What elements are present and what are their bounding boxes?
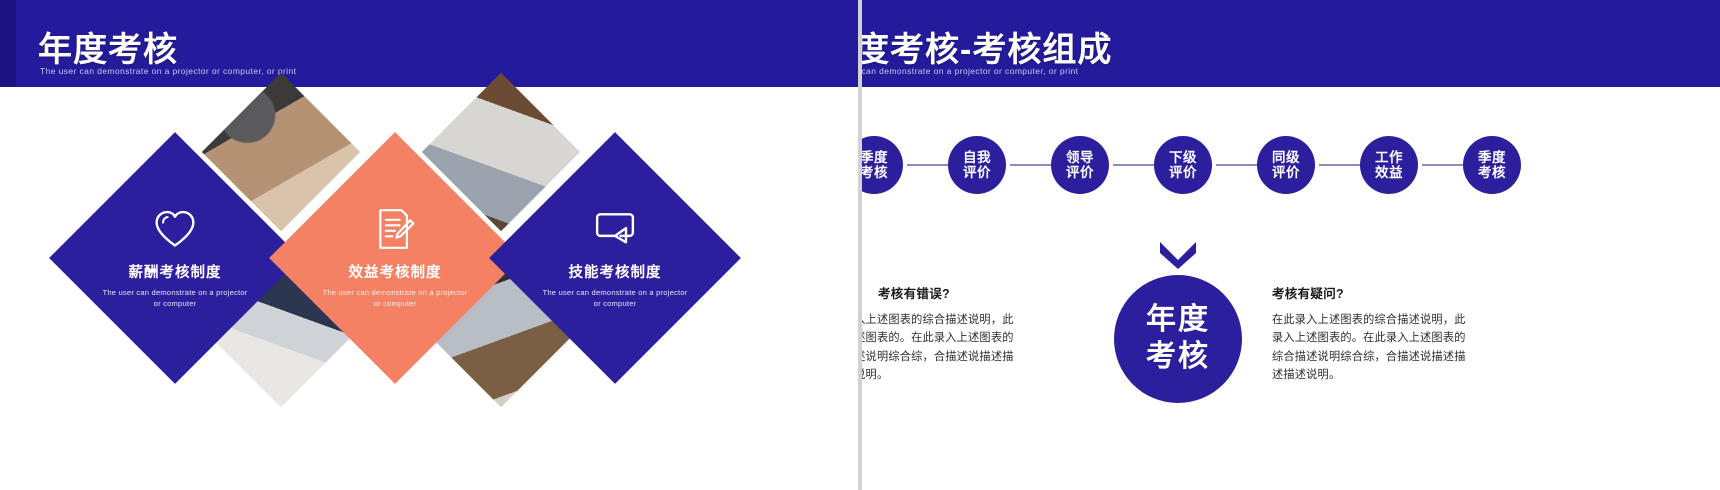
card-content: 效益考核制度 The user can demonstrate on a pro…: [306, 169, 484, 347]
text-block-body: 在此录入上述图表的综合描述说明，此录入上述图表的。在此录入上述图表的综合描述说明…: [862, 311, 1020, 385]
text-block-heading: 考核有错误?: [878, 283, 1020, 302]
flow-node-quarterly-assessment-2[interactable]: 季度 考核: [1463, 136, 1521, 194]
flow-node-self-evaluation[interactable]: 自我 评价: [948, 136, 1006, 194]
node-line-2: 效益: [1375, 165, 1403, 180]
node-line-2: 评价: [1169, 165, 1197, 180]
node-line-1: 季度: [1478, 150, 1506, 165]
assessment-flow-diagram: 季度 考核 自我 评价 领导 评价 下级 评价 同级 评价 工作 效益: [862, 0, 1720, 490]
flow-node-peer-evaluation[interactable]: 同级 评价: [1257, 136, 1315, 194]
card-title: 技能考核制度: [569, 261, 662, 282]
node-line-1: 领导: [1066, 150, 1094, 165]
left-slide-header: 年度考核 The user can demonstrate on a proje…: [0, 0, 858, 87]
chevron-down-icon: [1158, 239, 1198, 269]
document-edit-icon: [373, 207, 417, 251]
text-block-heading: 考核有疑问?: [1272, 283, 1472, 302]
flow-node-leader-evaluation[interactable]: 领导 评价: [1051, 136, 1109, 194]
diamond-cluster: 薪酬考核制度 The user can demonstrate on a pro…: [50, 132, 750, 382]
text-block-body: 在此录入上述图表的综合描述说明，此录入上述图表的。在此录入上述图表的综合描述说明…: [1272, 311, 1472, 385]
presentation-canvas: 年度考核 The user can demonstrate on a proje…: [0, 0, 1720, 490]
card-subtitle: The user can demonstrate on a projector …: [100, 287, 250, 310]
center-line-1: 年度: [1146, 302, 1210, 339]
text-block-question: 考核有疑问? 在此录入上述图表的综合描述说明，此录入上述图表的。在此录入上述图表…: [1272, 283, 1472, 385]
card-title: 薪酬考核制度: [129, 261, 222, 282]
flow-node-work-efficiency[interactable]: 工作 效益: [1360, 136, 1418, 194]
node-line-2: 评价: [1066, 165, 1094, 180]
page-subtitle: The user can demonstrate on a projector …: [40, 66, 296, 76]
card-title: 效益考核制度: [349, 261, 442, 282]
center-line-2: 考核: [1146, 339, 1210, 376]
flow-node-quarterly-assessment[interactable]: 季度 考核: [862, 136, 903, 194]
node-line-1: 工作: [1375, 150, 1403, 165]
heart-icon: [153, 207, 197, 251]
card-content: 技能考核制度 The user can demonstrate on a pro…: [526, 169, 704, 347]
header-left-edge-accent: [0, 0, 16, 87]
page-title: 年度考核: [38, 22, 178, 71]
annual-assessment-center-circle[interactable]: 年度 考核: [1114, 275, 1242, 403]
node-line-2: 考核: [862, 165, 888, 180]
node-line-1: 同级: [1272, 150, 1300, 165]
card-subtitle: The user can demonstrate on a projector …: [320, 287, 470, 310]
node-line-1: 自我: [963, 150, 991, 165]
node-line-2: 评价: [1272, 165, 1300, 180]
speech-bubble-icon: [593, 207, 637, 251]
card-subtitle: The user can demonstrate on a projector …: [540, 287, 690, 310]
text-block-error: 考核有错误? 在此录入上述图表的综合描述说明，此录入上述图表的。在此录入上述图表…: [862, 283, 1020, 385]
slide-left: 年度考核 The user can demonstrate on a proje…: [0, 0, 858, 490]
card-content: 薪酬考核制度 The user can demonstrate on a pro…: [86, 169, 264, 347]
node-line-2: 考核: [1478, 165, 1506, 180]
slide-right: 年度考核-考核组成 The user can demonstrate on a …: [862, 0, 1720, 490]
node-line-2: 评价: [963, 165, 991, 180]
node-line-1: 下级: [1169, 150, 1197, 165]
node-line-1: 季度: [862, 150, 888, 165]
flow-node-subordinate-evaluation[interactable]: 下级 评价: [1154, 136, 1212, 194]
